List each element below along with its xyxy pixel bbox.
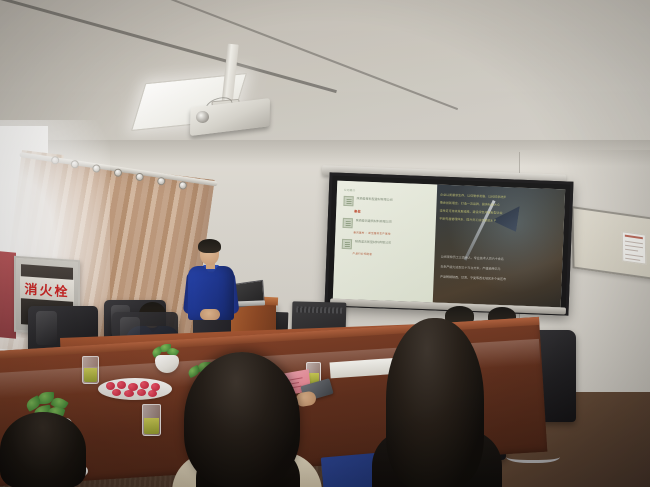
slide-bullet-item: 陕西秦风建筑材料有限公司: [343, 218, 432, 231]
slide-section-tag: 公司简介: [344, 188, 432, 195]
slide-right-photo-panel: 企业以质量求生存，以信誉求发展，以科技求进步 秉承创新理念，打造一流品牌，服务社…: [433, 185, 565, 308]
tea-liquid: [144, 418, 159, 434]
slide-bullet-sub: 产品行业领跑者: [352, 251, 429, 258]
av-rack-vent-icon: [296, 306, 342, 313]
whiteboard-posted-paper: [622, 231, 647, 264]
attendee-hair-corner: [0, 412, 86, 487]
tea-glass-1: [82, 356, 99, 384]
slide-bullet-sub: 秦星: [354, 208, 431, 216]
attendee-long-hair: [184, 352, 300, 487]
slide-bullet-item: 陕西秦星新型建材有限公司: [343, 196, 432, 209]
paper-line: [625, 249, 638, 252]
slide-bullet-sub: 秦风建材 ：新型建材生产基地: [353, 230, 430, 237]
wall-whiteboard: [571, 206, 650, 280]
slide-bullet-item: 陕西蓝天新型材料有限公司: [342, 239, 431, 252]
tea-liquid: [84, 368, 97, 382]
projected-slide: 公司简介 陕西秦星新型建材有限公司 秦星 陕西秦风建筑材料有限公司 秦风建材 ：…: [333, 181, 565, 308]
ceiling-beam-main: [0, 0, 337, 93]
paper-title-bar: [625, 235, 643, 240]
tea-glass-2: [142, 404, 161, 436]
slide-bullet-title: 陕西秦星新型建材有限公司: [357, 196, 393, 202]
presenter-hands: [200, 309, 220, 320]
presenter-hair: [198, 239, 221, 253]
paper-line: [625, 254, 643, 258]
fire-hydrant-sign: 消火栓: [20, 276, 74, 302]
slide-left-panel: 公司简介 陕西秦星新型建材有限公司 秦星 陕西秦风建筑材料有限公司 秦风建材 ：…: [333, 181, 438, 303]
conference-room-photo: 消火栓 消防栓 公司简介 陕西秦星新型建材有限公司 秦星 陕西秦风建筑材料有限公…: [0, 0, 650, 487]
attendee-long-hair: [386, 318, 484, 487]
slide-bullet-title: 陕西蓝天新型材料有限公司: [355, 239, 391, 245]
slide-bullet-title: 陕西秦风建筑材料有限公司: [356, 218, 392, 224]
projection-screen[interactable]: 公司简介 陕西秦星新型建材有限公司 秦星 陕西秦风建筑材料有限公司 秦风建材 ：…: [325, 172, 574, 315]
company-logo-icon: [343, 196, 353, 206]
paper-line: [625, 241, 643, 245]
watermelon-plate: [98, 378, 172, 400]
company-logo-icon: [343, 218, 353, 228]
paper-line: [625, 258, 640, 261]
company-logo-icon: [342, 239, 352, 249]
paper-line: [625, 245, 643, 249]
